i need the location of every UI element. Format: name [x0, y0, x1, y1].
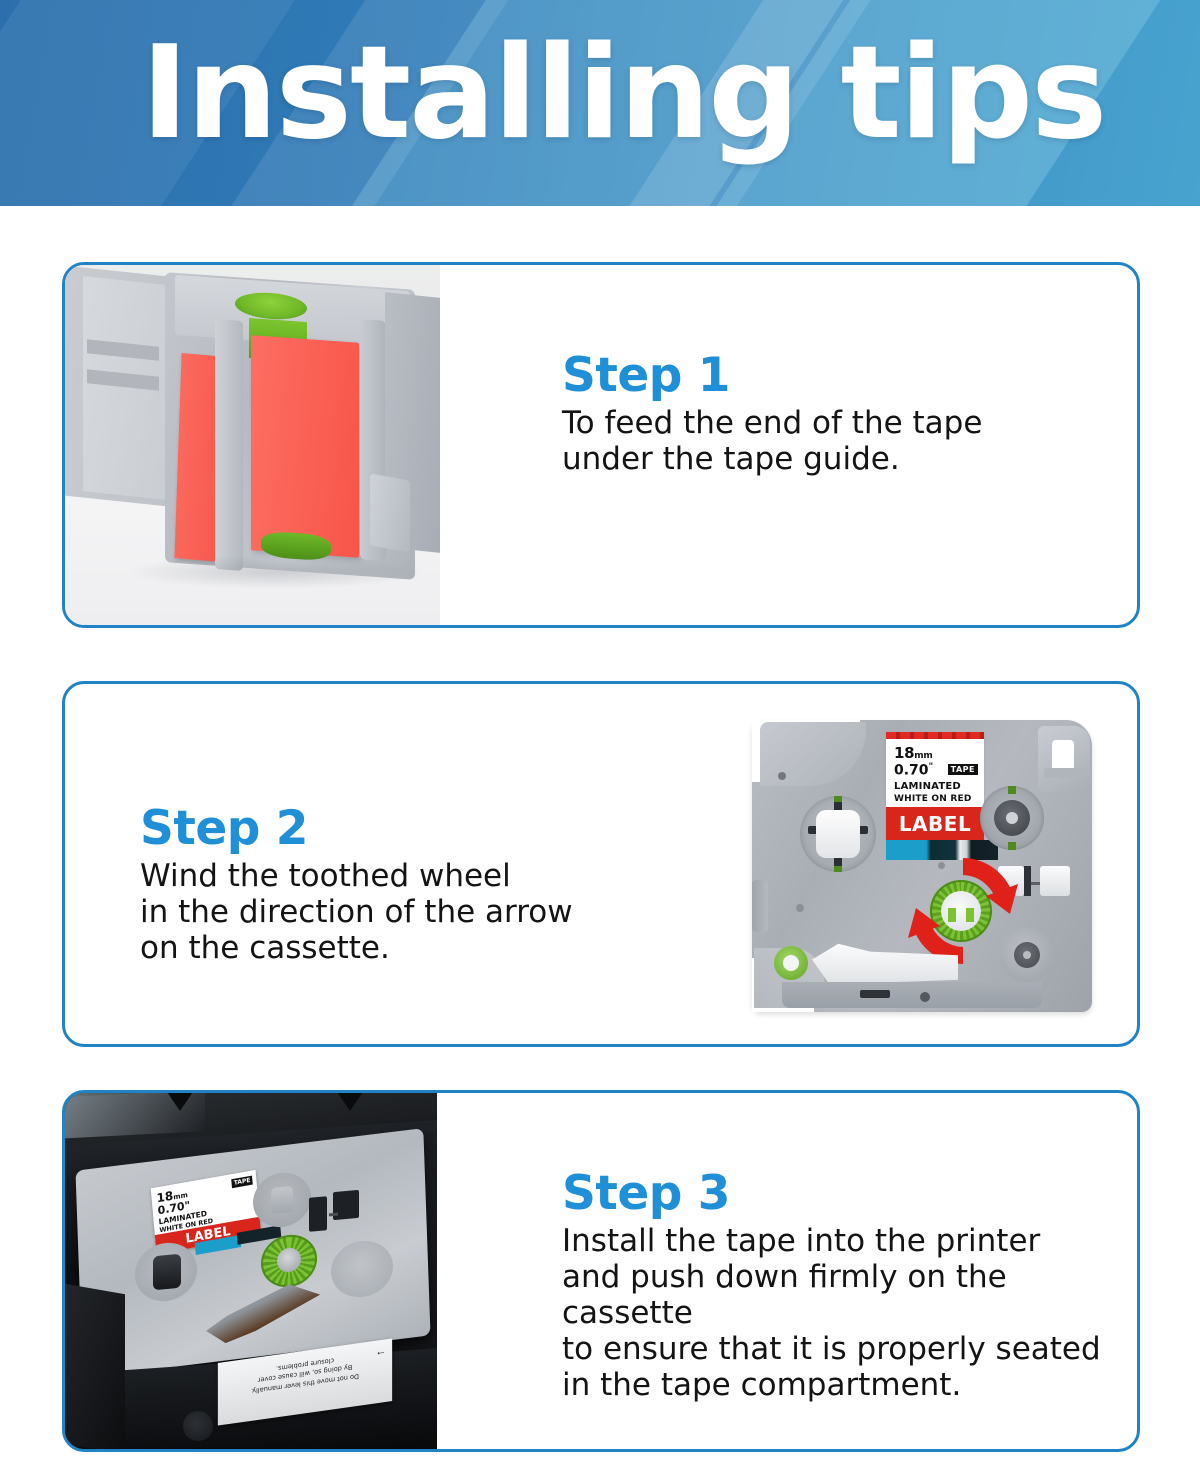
cassette-drive-post-hole	[1023, 951, 1031, 959]
arrow-right-icon: →	[375, 1347, 386, 1361]
step-3-body: Install the tape into the printer and pu…	[562, 1224, 1140, 1404]
tape-cassette-illustration: 18mm 0.70" TAPE LAMINATED WHITE ON RED L…	[752, 720, 1092, 1012]
cassette-screw-dot-b	[796, 904, 804, 912]
cassette-toothed-wheel-arrow-photo: 18mm 0.70" TAPE LAMINATED WHITE ON RED L…	[710, 706, 1130, 1026]
photo-drop-shadow	[125, 555, 425, 589]
label-width-mm: 18mm	[894, 744, 932, 762]
cassette-square-slot-b	[1040, 866, 1070, 896]
page-header-banner: Installing tips	[0, 0, 1200, 206]
label-top-red-strip	[886, 732, 984, 739]
cassette-product-label: 18mm 0.70" TAPE LAMINATED WHITE ON RED L…	[886, 732, 984, 840]
tape-guide-pillar-left	[215, 319, 243, 571]
label-width-inch: 0.70"	[894, 762, 933, 779]
step-1-title: Step 1	[562, 351, 1102, 400]
cassette-screw-dot-a	[778, 772, 786, 780]
step-1-text-block: Step 1 To feed the end of the tape under…	[562, 351, 1102, 478]
cassette-top-right-bar	[1044, 768, 1086, 778]
step-2-body: Wind the toothed wheel in the direction …	[140, 859, 660, 967]
left-spool-hub	[816, 810, 860, 858]
label-brand-word: LABEL	[886, 812, 984, 836]
cassette-green-bushing-hole	[783, 955, 799, 971]
label-laminated-text: LAMINATED	[894, 781, 961, 792]
step-card-3: 18mm TAPE 0.70" LAMINATED WHITE ON RED L…	[62, 1090, 1140, 1452]
step-1-body: To feed the end of the tape under the ta…	[562, 406, 1102, 478]
cassette-right-spool	[980, 786, 1044, 850]
cassette-bottom-dot	[920, 992, 930, 1002]
label-tape-badge: TAPE	[948, 764, 978, 775]
label-color-spec-text: WHITE ON RED	[894, 794, 972, 804]
seated-cassette-right-spool-hub	[271, 1186, 293, 1214]
printer-lower-dial	[183, 1411, 213, 1441]
printer-left-panel	[65, 1284, 125, 1449]
seated-cassette-slot-a	[309, 1196, 327, 1232]
step-3-text-block: Step 3 Install the tape into the printer…	[562, 1169, 1140, 1404]
step-2-text-block: Step 2 Wind the toothed wheel in the dir…	[140, 804, 660, 967]
label-red-band: LABEL	[886, 807, 984, 840]
printer-tape-compartment-photo: 18mm TAPE 0.70" LAMINATED WHITE ON RED L…	[65, 1093, 437, 1449]
left-spool-green-mark-top	[834, 796, 842, 802]
cassette-left-spool	[800, 796, 876, 872]
step-2-title: Step 2	[140, 804, 660, 853]
page-title: Installing tips	[141, 30, 1105, 158]
step-card-1: Step 1 To feed the end of the tape under…	[62, 262, 1140, 628]
seated-label-tape-badge: TAPE	[231, 1176, 252, 1189]
step-card-2: Step 2 Wind the toothed wheel in the dir…	[62, 681, 1140, 1047]
cassette-screw-dot-c	[938, 862, 945, 869]
cassette-bottom-nub	[860, 990, 890, 998]
cassette-bottom-bar	[782, 982, 1042, 1008]
red-tape-strip-main	[251, 335, 359, 558]
left-spool-green-mark-bottom	[834, 866, 842, 872]
step-3-title: Step 3	[562, 1169, 1140, 1218]
right-spool-center-hole	[1006, 812, 1018, 824]
cassette-tape-guide-closeup-photo	[65, 265, 440, 625]
right-spool-green-mark-top	[1008, 786, 1016, 794]
cassette-clip	[370, 473, 410, 552]
cassette-left-tab	[752, 880, 768, 932]
seated-cassette-left-spool-hub	[153, 1254, 181, 1290]
